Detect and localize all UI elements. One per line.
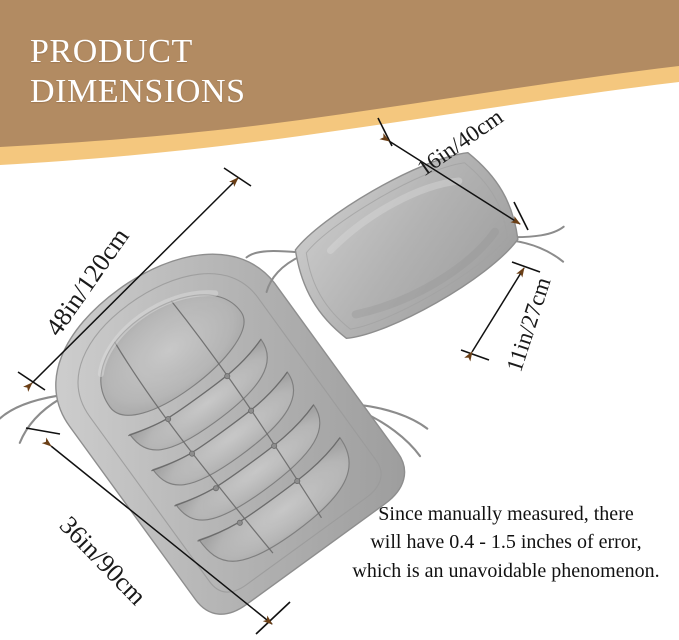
tick-mark — [512, 262, 540, 272]
pillow-body — [280, 135, 534, 356]
disclaimer-line-2: will have 0.4 - 1.5 inches of error, — [336, 528, 676, 556]
tick-mark — [26, 428, 60, 434]
measurement-disclaimer: Since manually measured, there will have… — [336, 500, 676, 585]
disclaimer-line-3: which is an unavoidable phenomenon. — [336, 557, 676, 585]
pillow-ties-right — [510, 211, 579, 279]
tick-mark — [461, 350, 489, 360]
tick-mark — [256, 602, 290, 634]
product-dimensions-infographic: PRODUCT DIMENSIONS — [0, 0, 679, 640]
tick-mark — [224, 168, 251, 186]
disclaimer-line-1: Since manually measured, there — [336, 500, 676, 528]
